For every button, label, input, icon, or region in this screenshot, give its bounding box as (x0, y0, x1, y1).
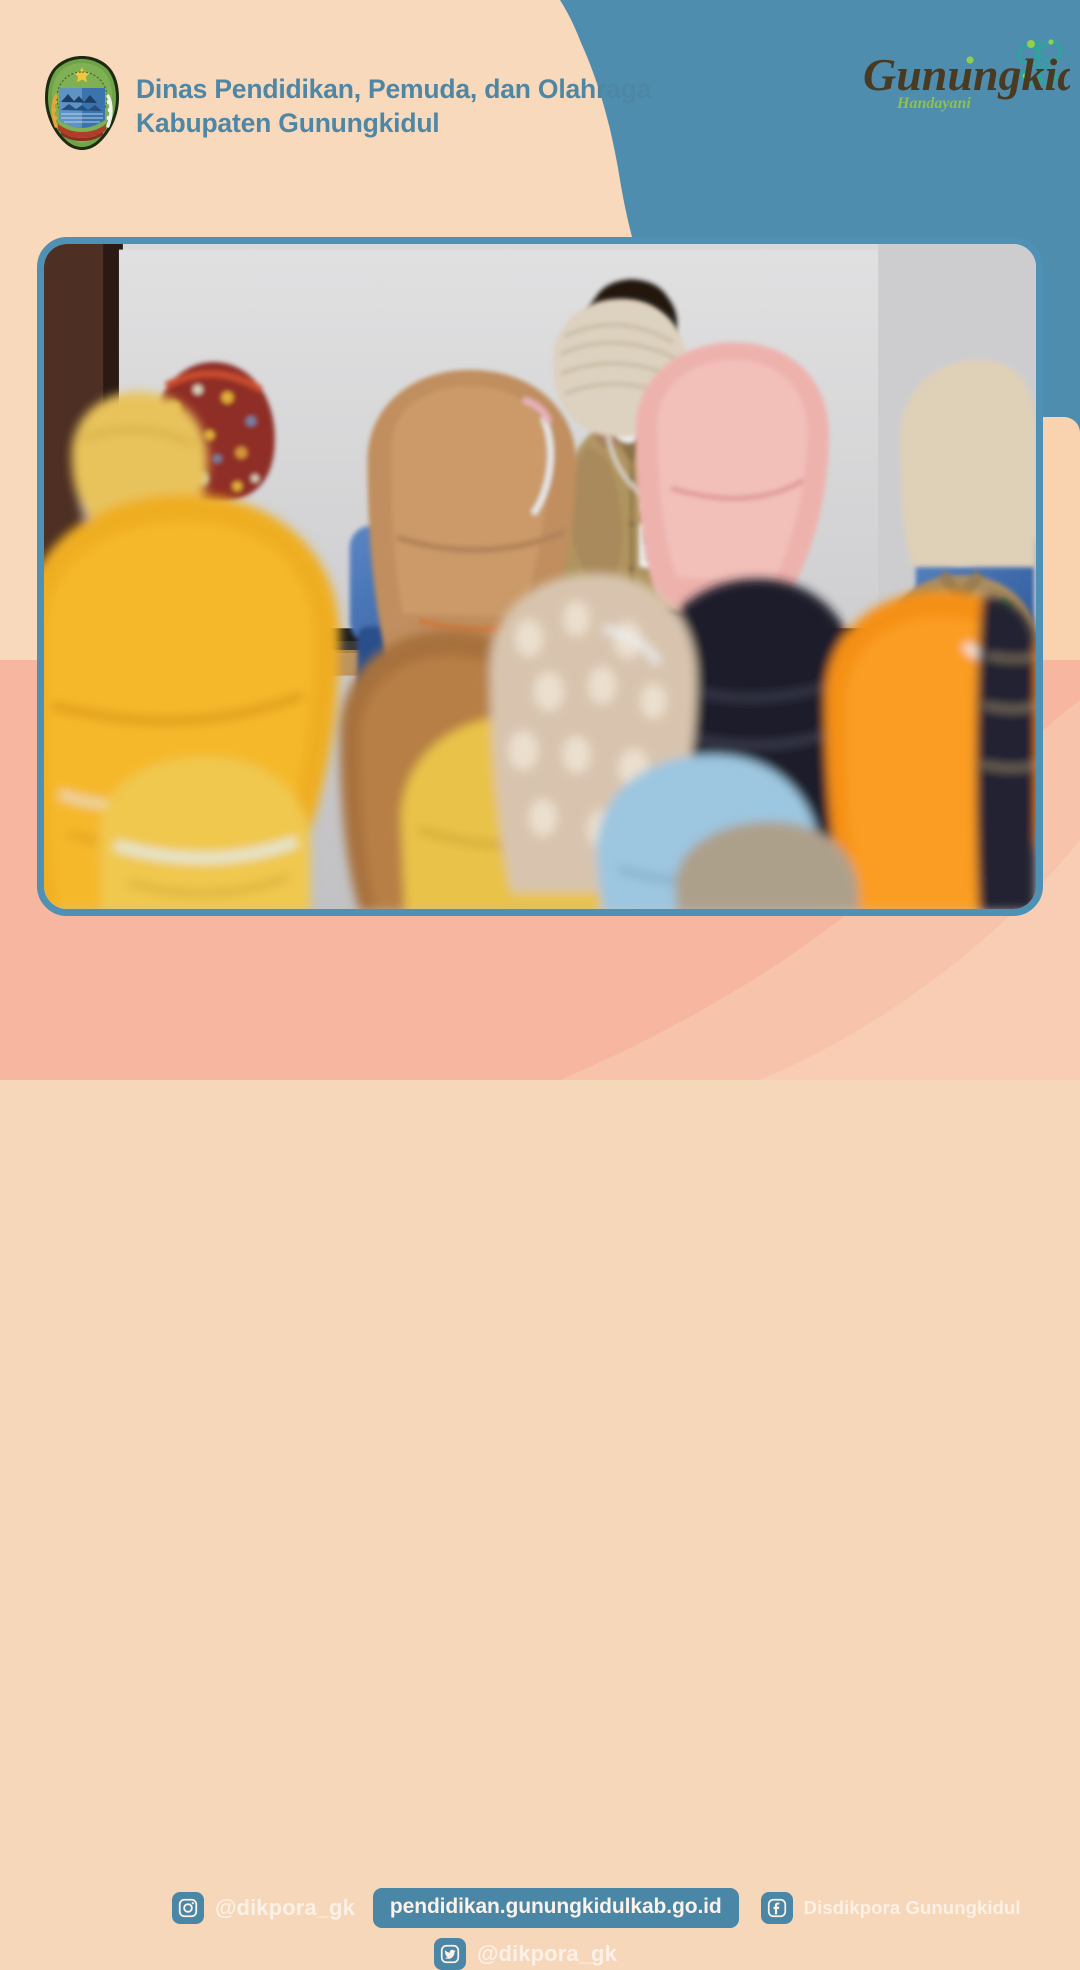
gunungkidul-brand-logo: Gunungkidul Handayani (855, 20, 1070, 130)
audience-person (976, 597, 1036, 909)
website-url-pill[interactable]: pendidikan.gunungkidulkab.go.id (373, 1888, 739, 1928)
audience-person (900, 360, 1036, 567)
brand-tagline: Handayani (896, 95, 971, 112)
org-title-line1: Dinas Pendidikan, Pemuda, dan Olahraga (136, 74, 651, 104)
twitter-handle: @dikpora_gk (477, 1941, 617, 1967)
page-title: Dinas Pendidikan, Pemuda, dan Olahraga K… (136, 72, 776, 141)
facebook-icon[interactable] (761, 1892, 793, 1924)
poster-footer: @dikpora_gk pendidikan.gunungkidulkab.go… (0, 930, 1080, 1080)
social-facebook[interactable]: Disdikpora Gunungkidul (761, 1892, 1021, 1924)
gunungkidul-regency-crest-icon (42, 54, 122, 152)
brand-wordmark: Gunungkidul (863, 49, 1070, 100)
instagram-icon[interactable] (172, 1892, 204, 1924)
footer-row-secondary: @dikpora_gk (434, 1938, 635, 1970)
org-title-line2: Kabupaten Gunungkidul (136, 106, 776, 140)
instagram-handle: @dikpora_gk (215, 1895, 355, 1921)
social-twitter[interactable]: @dikpora_gk (434, 1938, 617, 1970)
poster-header: Dinas Pendidikan, Pemuda, dan Olahraga K… (0, 0, 1080, 200)
footer-row-primary: @dikpora_gk pendidikan.gunungkidulkab.go… (172, 1888, 1039, 1928)
event-photo-illustration (44, 244, 1036, 909)
audience-person (99, 756, 310, 909)
facebook-page-name: Disdikpora Gunungkidul (804, 1897, 1021, 1919)
poster-canvas: Dinas Pendidikan, Pemuda, dan Olahraga K… (0, 0, 1080, 1080)
event-photo (37, 237, 1043, 916)
social-instagram[interactable]: @dikpora_gk (172, 1892, 355, 1924)
twitter-icon[interactable] (434, 1938, 466, 1970)
